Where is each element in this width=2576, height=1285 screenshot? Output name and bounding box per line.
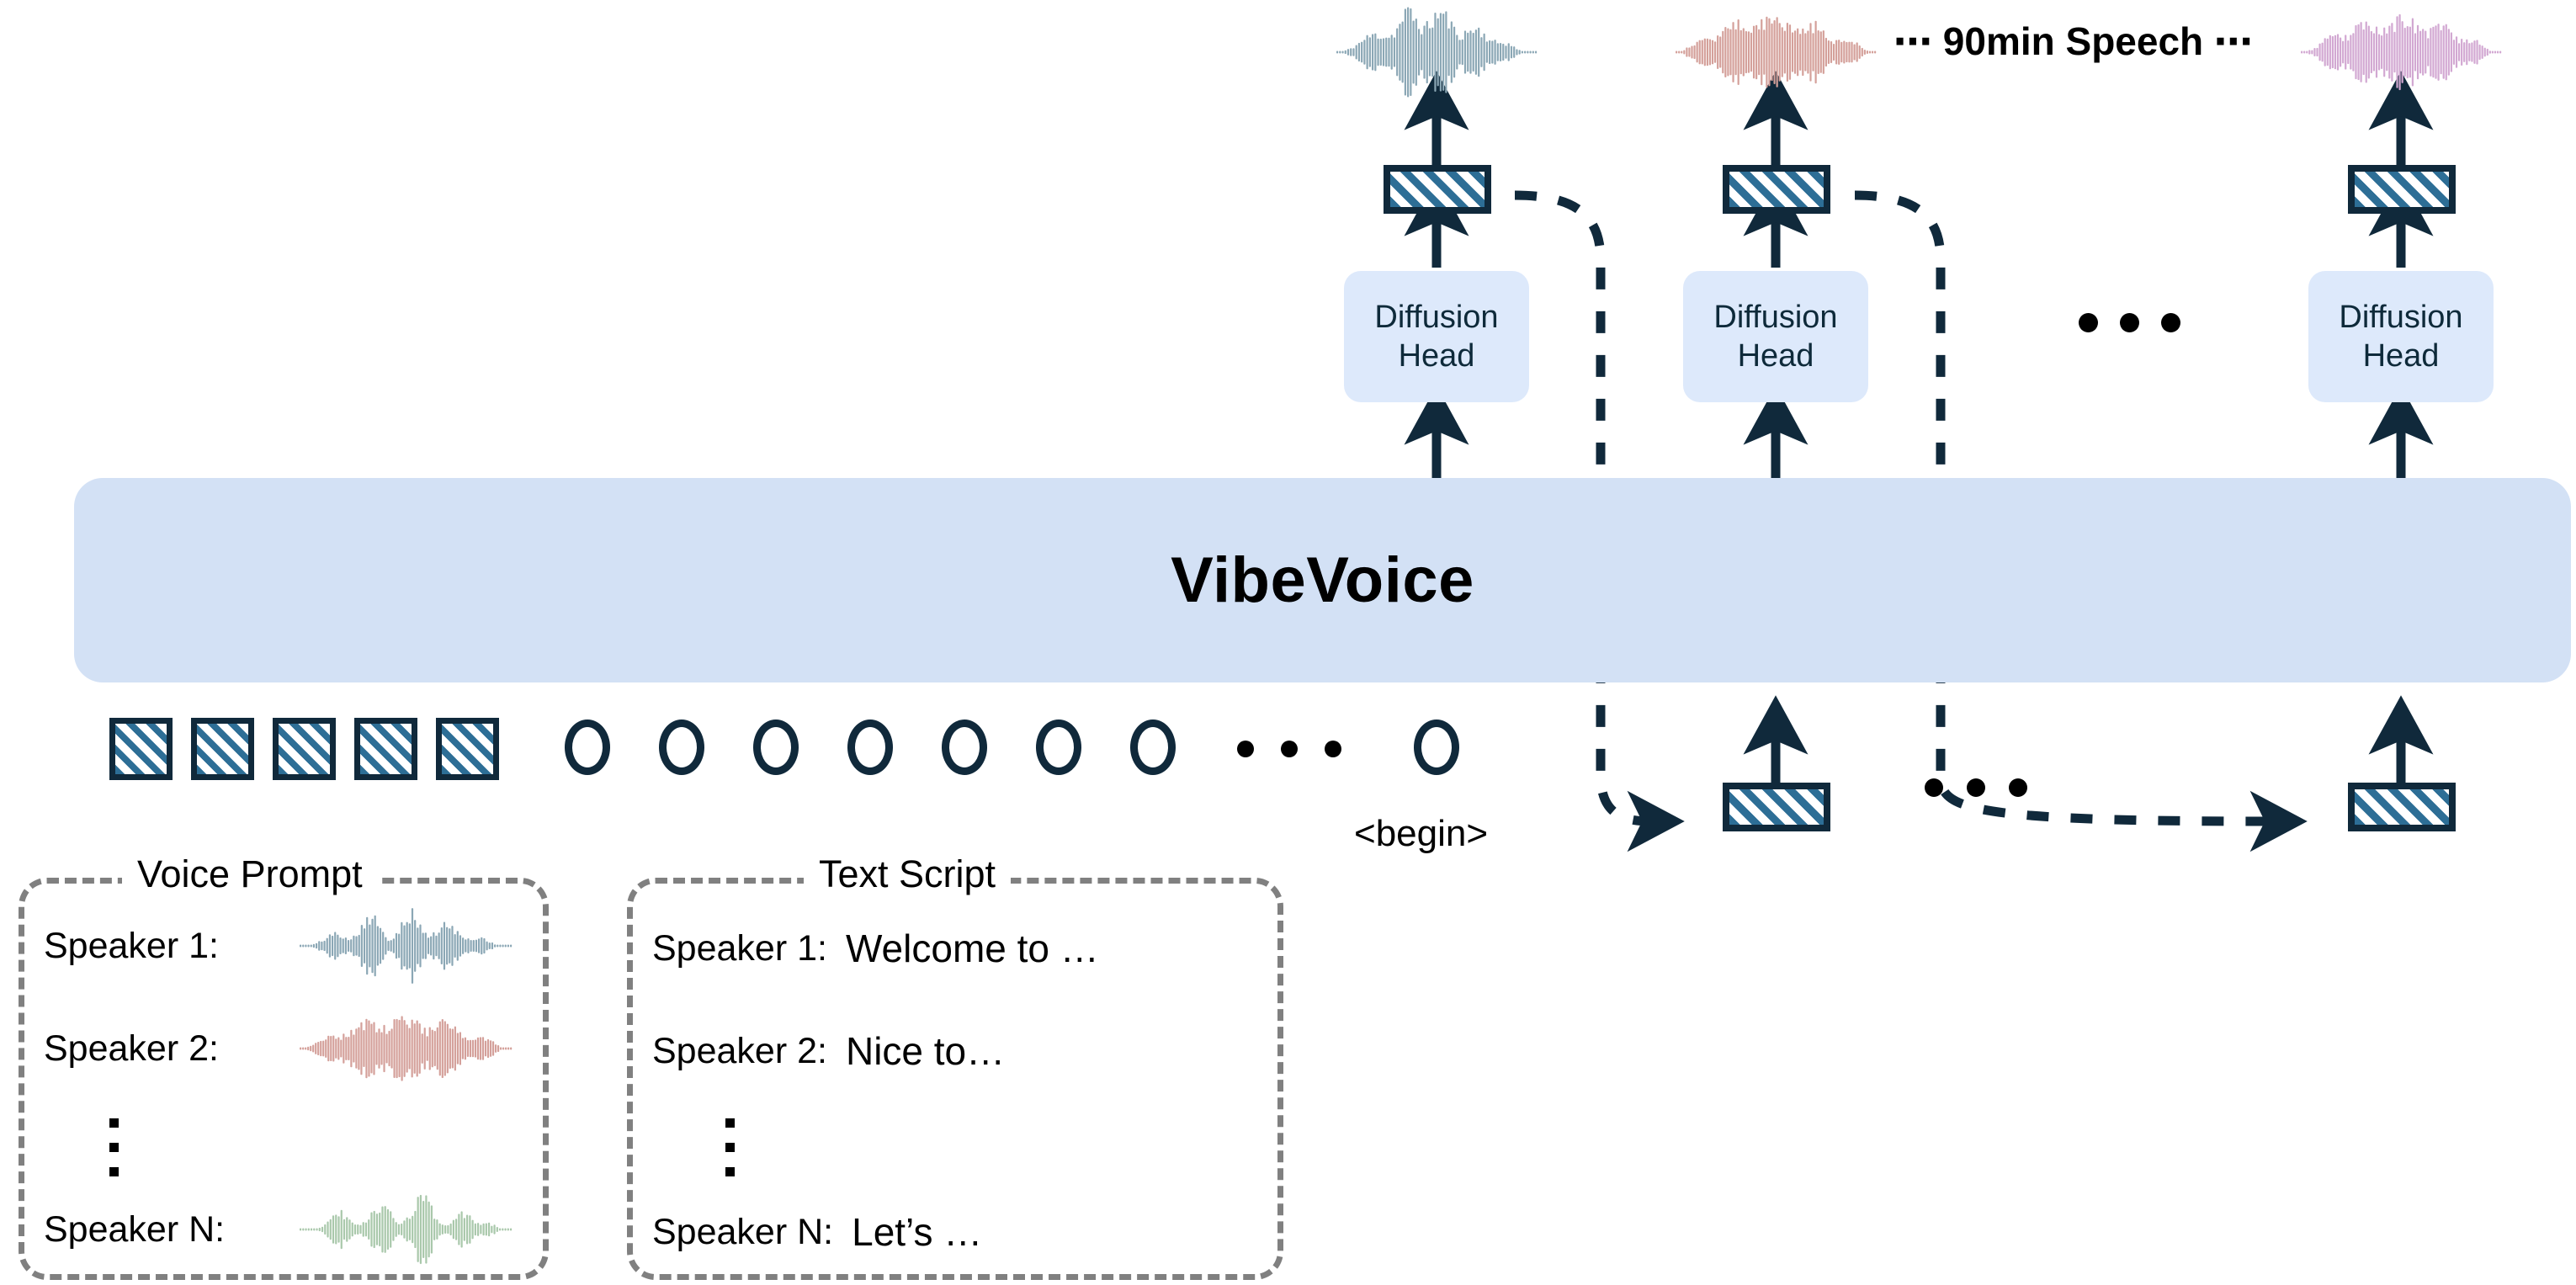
latent-token-top-2[interactable]	[1723, 165, 1830, 214]
diffusion-head-ellipsis	[2079, 313, 2180, 332]
voice-prompt-row-1: Speaker 1:	[44, 926, 219, 967]
voice-prompt-row-2: Speaker 2:	[44, 1028, 219, 1070]
diffusion-head-1[interactable]: Diffusion Head	[1344, 271, 1529, 402]
text-token-7[interactable]	[1130, 719, 1176, 775]
diffusion-head-1-line1: Diffusion	[1374, 298, 1498, 337]
text-script-title: Text Script	[804, 852, 1011, 896]
voice-prompt-title: Voice Prompt	[122, 852, 378, 896]
text-token-5[interactable]	[942, 719, 987, 775]
text-script-row-2: Speaker 2: Nice to…	[652, 1028, 1005, 1074]
diffusion-head-3-line2: Head	[2363, 337, 2440, 375]
text-token-3[interactable]	[753, 719, 799, 775]
text-script-vertical-ellipsis	[725, 1111, 735, 1184]
begin-token-label: <begin>	[1354, 813, 1488, 855]
caption-prefix-ellipsis: ⋯	[1893, 19, 1932, 63]
output-waveform-speaker2	[1676, 17, 1876, 88]
voice-prompt-token-5[interactable]	[436, 718, 499, 780]
diffusion-head-2-line1: Diffusion	[1713, 298, 1837, 337]
diffusion-head-2-line2: Head	[1738, 337, 1814, 375]
voice-prompt-speaker-n-name: Speaker N:	[44, 1209, 225, 1250]
diffusion-head-3[interactable]: Diffusion Head	[2308, 271, 2494, 402]
latent-token-bottom-ellipsis	[1925, 778, 2027, 797]
text-token-2[interactable]	[659, 719, 704, 775]
text-token-ellipsis	[1237, 741, 1341, 757]
voice-prompt-token-3[interactable]	[273, 718, 336, 780]
diffusion-head-3-line1: Diffusion	[2339, 298, 2462, 337]
voice-prompt-token-1[interactable]	[109, 718, 173, 780]
text-script-row-1: Speaker 1: Welcome to …	[652, 926, 1099, 971]
text-script-speaker-2-name: Speaker 2:	[652, 1031, 827, 1072]
voice-prompt-vertical-ellipsis	[109, 1111, 119, 1184]
backbone-title: VibeVoice	[1171, 544, 1474, 617]
text-token-1[interactable]	[565, 719, 610, 775]
latent-token-top-1[interactable]	[1384, 165, 1491, 214]
voice-prompt-speaker-1-name: Speaker 1:	[44, 926, 219, 967]
text-script-speaker-n-name: Speaker N:	[652, 1212, 833, 1253]
voice-prompt-token-4[interactable]	[354, 718, 417, 780]
speech-duration-caption: ⋯ 90min Speech ⋯	[1893, 19, 2253, 64]
text-script-speaker-n-text: Let’s …	[852, 1209, 982, 1255]
voice-prompt-row-n: Speaker N:	[44, 1209, 225, 1250]
text-script-speaker-1-name: Speaker 1:	[652, 928, 827, 969]
text-token-6[interactable]	[1036, 719, 1081, 775]
text-script-speaker-2-text: Nice to…	[846, 1028, 1005, 1074]
output-waveform-speaker1	[1336, 7, 1537, 97]
latent-token-bottom-1[interactable]	[1723, 783, 1830, 831]
caption-suffix-ellipsis: ⋯	[2214, 19, 2253, 63]
text-token-4[interactable]	[847, 719, 893, 775]
latent-token-bottom-2[interactable]	[2348, 783, 2456, 831]
vibevoice-backbone[interactable]: VibeVoice	[74, 478, 2571, 682]
diffusion-head-2[interactable]: Diffusion Head	[1683, 271, 1868, 402]
begin-token[interactable]	[1414, 719, 1459, 775]
voice-prompt-token-2[interactable]	[191, 718, 254, 780]
text-script-row-n: Speaker N: Let’s …	[652, 1209, 982, 1255]
latent-token-top-3[interactable]	[2348, 165, 2456, 214]
diffusion-head-1-line2: Head	[1399, 337, 1475, 375]
diagram-canvas: ⋯ 90min Speech ⋯ Diffusion Head Diffusio…	[0, 0, 2576, 1285]
output-waveform-speakerN	[2301, 14, 2501, 90]
caption-text: 90min Speech	[1943, 19, 2203, 63]
voice-prompt-speaker-2-name: Speaker 2:	[44, 1028, 219, 1070]
text-script-speaker-1-text: Welcome to …	[846, 926, 1099, 971]
